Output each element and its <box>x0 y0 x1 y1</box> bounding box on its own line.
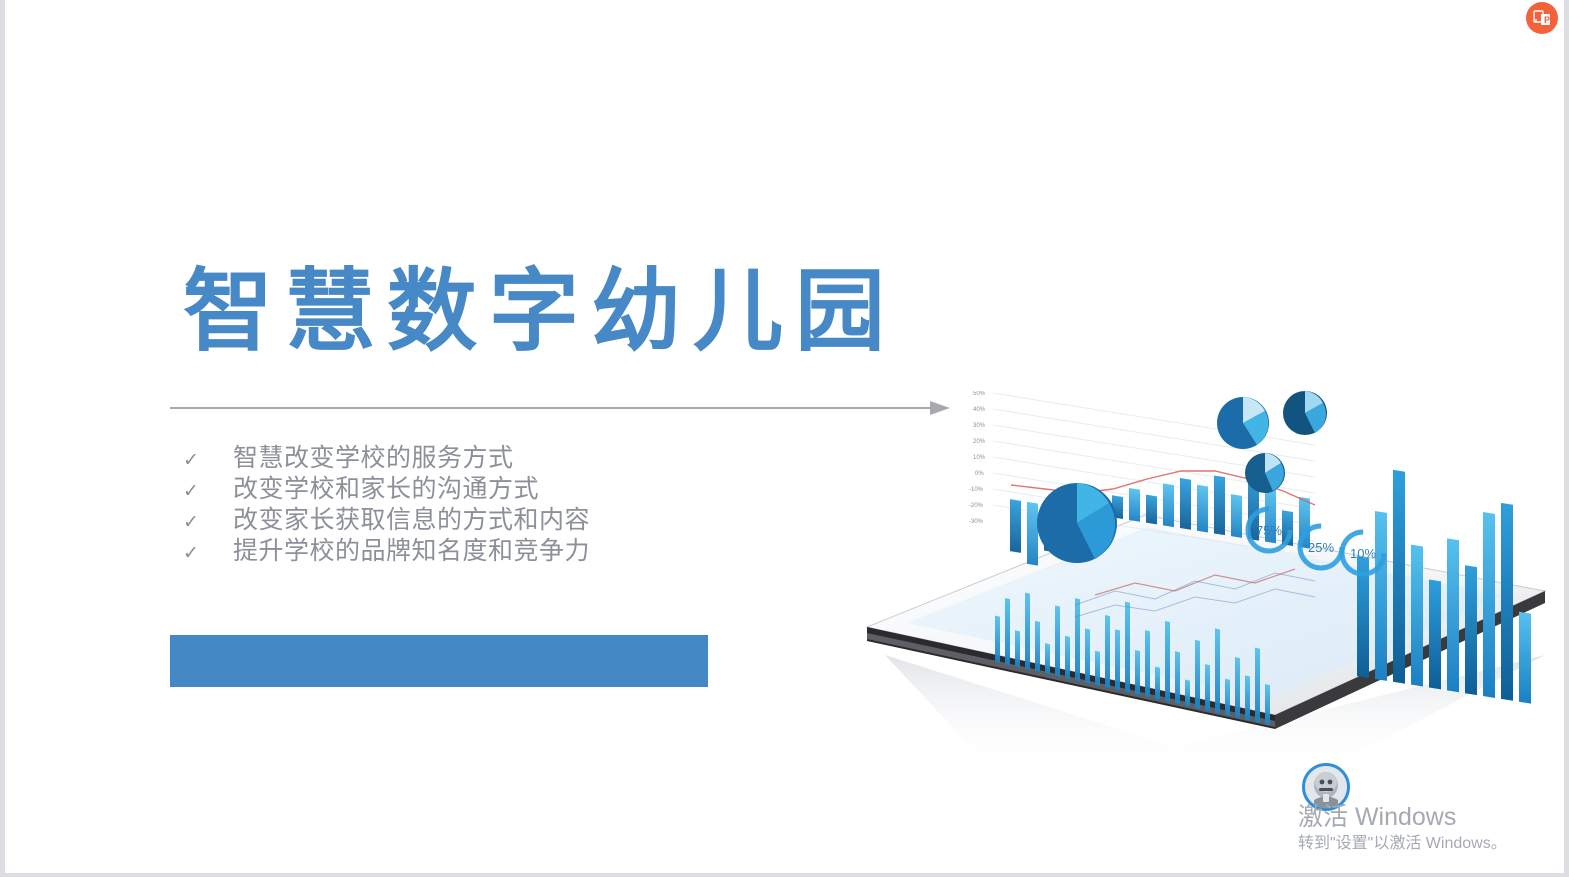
pie-chart-large-foreground <box>1037 483 1117 563</box>
list-item: ✓ 智慧改变学校的服务方式 <box>183 443 783 474</box>
svg-text:40%: 40% <box>973 407 986 413</box>
donut-badge-10-label: 10% <box>1350 546 1376 561</box>
svg-text:50%: 50% <box>973 391 986 397</box>
pie-chart-upper-right <box>1283 391 1327 435</box>
arrow-divider <box>170 399 952 417</box>
check-icon: ✓ <box>183 445 233 476</box>
svg-text:10%: 10% <box>973 455 986 461</box>
list-item-label: 改变学校和家长的沟通方式 <box>233 474 539 505</box>
list-item: ✓ 提升学校的品牌知名度和竞争力 <box>183 536 783 567</box>
donut-badge-75-label: 75% <box>1256 523 1282 538</box>
list-item: ✓ 改变学校和家长的沟通方式 <box>183 474 783 505</box>
check-icon: ✓ <box>183 507 233 538</box>
svg-text:20%: 20% <box>973 439 986 445</box>
pie-chart-upper-left <box>1217 397 1269 449</box>
check-icon: ✓ <box>183 476 233 507</box>
svg-text:-10%: -10% <box>969 487 984 493</box>
list-item-label: 提升学校的品牌知名度和竞争力 <box>233 536 590 567</box>
page-title: 智慧数字幼儿园 <box>183 265 897 360</box>
list-item-label: 改变家长获取信息的方式和内容 <box>233 505 590 536</box>
svg-text:P: P <box>1544 15 1550 25</box>
svg-text:30%: 30% <box>973 423 986 429</box>
windows-activation-watermark: 激活 Windows 转到"设置"以激活 Windows。 <box>1298 803 1568 855</box>
svg-text:0%: 0% <box>975 471 984 477</box>
convert-glyph: P <box>1532 8 1552 28</box>
ppt-convert-icon[interactable]: P <box>1526 2 1558 34</box>
accent-bar <box>170 635 708 687</box>
pie-chart-small-right <box>1245 453 1285 493</box>
windows-activation-subtitle: 转到"设置"以激活 Windows。 <box>1298 833 1568 855</box>
tablet-3d-analytics-illustration: 50% 40% 30% 20% 10% 0% -10% -20% -30% <box>845 355 1569 775</box>
svg-text:-20%: -20% <box>969 503 984 509</box>
list-item: ✓ 改变家长获取信息的方式和内容 <box>183 505 783 536</box>
list-item-label: 智慧改变学校的服务方式 <box>233 443 514 474</box>
donut-badge-25-label: 25% <box>1308 540 1334 555</box>
svg-text:-30%: -30% <box>969 519 984 525</box>
viewer-frame-bottom-edge <box>0 873 1569 877</box>
check-icon: ✓ <box>183 538 233 569</box>
windows-activation-title: 激活 Windows <box>1298 803 1568 831</box>
slide-canvas: 智慧数字幼儿园 ✓ 智慧改变学校的服务方式 ✓ 改变学校和家长的沟通方式 ✓ 改… <box>5 0 1564 873</box>
slide-viewer: 智慧数字幼儿园 ✓ 智慧改变学校的服务方式 ✓ 改变学校和家长的沟通方式 ✓ 改… <box>0 0 1569 877</box>
bullet-list: ✓ 智慧改变学校的服务方式 ✓ 改变学校和家长的沟通方式 ✓ 改变家长获取信息的… <box>183 443 783 567</box>
divider-line <box>170 407 932 409</box>
